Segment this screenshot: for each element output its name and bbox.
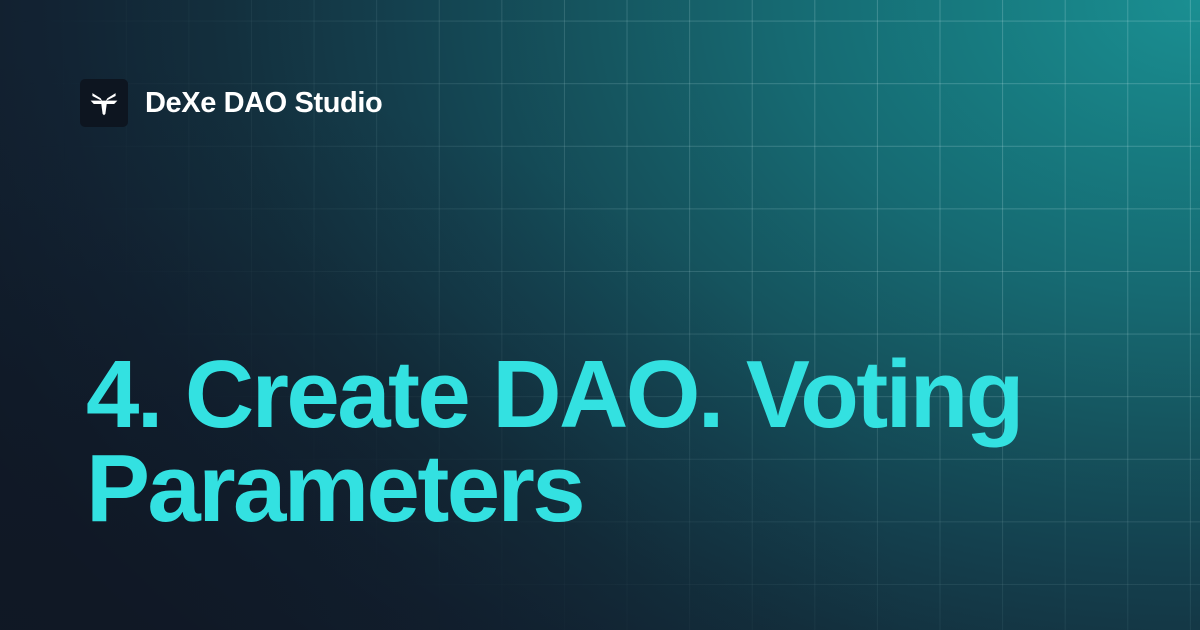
og-card: DeXe DAO Studio 4. Create DAO. Voting Pa… [0,0,1200,630]
brand-logo-badge [80,79,128,127]
brand-name-label: DeXe DAO Studio [145,89,382,118]
page-title: 4. Create DAO. Voting Parameters [86,348,1126,536]
brand-lockup: DeXe DAO Studio [80,79,382,127]
dexe-trident-logo-icon [89,88,119,118]
